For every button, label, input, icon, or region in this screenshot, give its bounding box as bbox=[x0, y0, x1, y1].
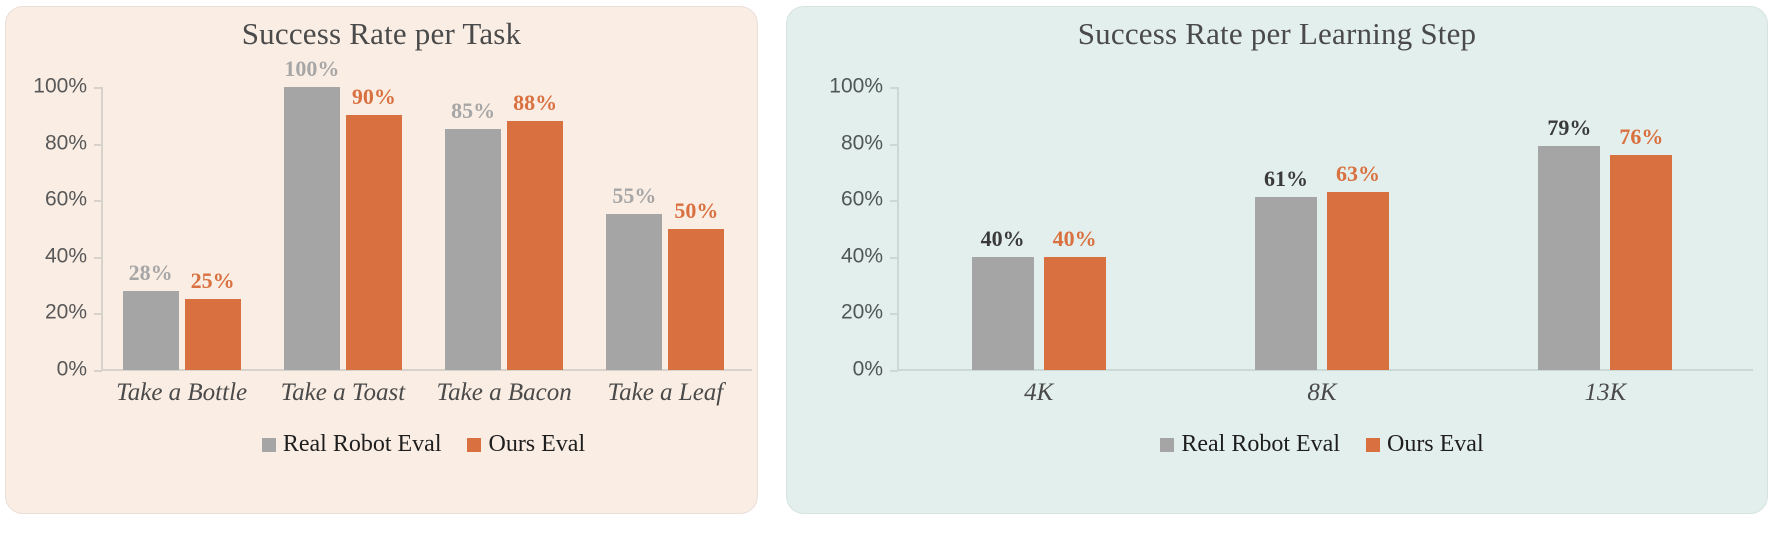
bar-value-label: 55% bbox=[612, 183, 656, 209]
chart-panel-success-rate-per-learning-step: Success Rate per Learning Step 0%20%40%6… bbox=[786, 6, 1768, 514]
x-axis-category-label: Take a Bottle bbox=[101, 379, 262, 407]
y-axis-tick-label: 60% bbox=[45, 188, 87, 212]
bar-pair: 61%63% bbox=[1255, 87, 1389, 370]
bar-pair: 40%40% bbox=[972, 87, 1106, 370]
bar-real-robot-eval[interactable]: 100% bbox=[284, 87, 340, 370]
bar-groups-left: 28%25%100%90%85%88%55%50% bbox=[101, 87, 746, 370]
bar-pair: 55%50% bbox=[606, 87, 724, 370]
x-axis-category-label: Take a Toast bbox=[262, 379, 423, 407]
bar-value-label: 40% bbox=[1053, 226, 1097, 252]
bar-value-label: 79% bbox=[1547, 115, 1591, 141]
bar-value-label: 25% bbox=[191, 268, 235, 294]
bar-ours-eval[interactable]: 40% bbox=[1044, 257, 1106, 370]
y-axis-tick-label: 20% bbox=[45, 301, 87, 325]
y-axis-tick-label: 20% bbox=[841, 301, 883, 325]
bar-real-robot-eval[interactable]: 85% bbox=[445, 129, 501, 370]
x-axis-category-label: 13K bbox=[1464, 379, 1747, 407]
legend-label-ours-eval: Ours Eval bbox=[488, 431, 585, 458]
bar-groups-right: 40%40%61%63%79%76% bbox=[897, 87, 1747, 370]
legend-right: Real Robot Eval Ours Eval bbox=[897, 431, 1747, 458]
plot-area-left: 0%20%40%60%80%100% 28%25%100%90%85%88%55… bbox=[101, 87, 746, 370]
bar-ours-eval[interactable]: 63% bbox=[1327, 192, 1389, 370]
bar-group: 79%76% bbox=[1464, 87, 1747, 370]
bar-value-label: 100% bbox=[284, 56, 339, 82]
legend-swatch-gray-icon bbox=[262, 438, 276, 452]
bar-real-robot-eval[interactable]: 28% bbox=[123, 291, 179, 370]
bar-value-label: 28% bbox=[129, 260, 173, 286]
bar-real-robot-eval[interactable]: 40% bbox=[972, 257, 1034, 370]
plot-area-right: 0%20%40%60%80%100% 40%40%61%63%79%76% bbox=[897, 87, 1747, 370]
y-axis-tick-label: 100% bbox=[33, 75, 87, 99]
bar-value-label: 40% bbox=[981, 226, 1025, 252]
y-axis-tick-label: 80% bbox=[841, 131, 883, 155]
bar-ours-eval[interactable]: 25% bbox=[185, 299, 241, 370]
bar-value-label: 76% bbox=[1619, 124, 1663, 150]
y-axis-tick-label: 40% bbox=[45, 244, 87, 268]
chart-title-right: Success Rate per Learning Step bbox=[787, 16, 1767, 52]
legend-swatch-orange-icon bbox=[467, 438, 481, 452]
legend-label-ours-eval: Ours Eval bbox=[1387, 431, 1484, 458]
bar-group: 85%88% bbox=[424, 87, 585, 370]
legend-label-real-robot-eval: Real Robot Eval bbox=[1181, 431, 1340, 458]
y-axis-tick bbox=[890, 370, 898, 372]
bar-real-robot-eval[interactable]: 55% bbox=[606, 214, 662, 370]
y-axis-tick-label: 60% bbox=[841, 188, 883, 212]
bar-group: 100%90% bbox=[262, 87, 423, 370]
bar-value-label: 50% bbox=[674, 198, 718, 224]
x-axis-category-label: Take a Leaf bbox=[585, 379, 746, 407]
y-axis-tick-label: 80% bbox=[45, 131, 87, 155]
bar-pair: 28%25% bbox=[123, 87, 241, 370]
bar-real-robot-eval[interactable]: 79% bbox=[1538, 146, 1600, 370]
legend-swatch-gray-icon bbox=[1160, 438, 1174, 452]
y-axis-tick-label: 100% bbox=[829, 75, 883, 99]
bar-pair: 85%88% bbox=[445, 87, 563, 370]
y-axis-tick-label: 0% bbox=[853, 358, 883, 382]
legend-label-real-robot-eval: Real Robot Eval bbox=[283, 431, 442, 458]
bar-pair: 100%90% bbox=[284, 87, 402, 370]
x-axis-category-label: 4K bbox=[897, 379, 1180, 407]
chart-title-left: Success Rate per Task bbox=[6, 16, 757, 52]
bar-group: 55%50% bbox=[585, 87, 746, 370]
bar-group: 61%63% bbox=[1180, 87, 1463, 370]
figure-board: Success Rate per Task 0%20%40%60%80%100%… bbox=[0, 0, 1774, 550]
bar-value-label: 63% bbox=[1336, 161, 1380, 187]
bar-value-label: 88% bbox=[513, 90, 557, 116]
x-axis-labels-right: 4K8K13K bbox=[897, 379, 1747, 407]
bar-value-label: 90% bbox=[352, 84, 396, 110]
legend-item-real-robot-eval-right[interactable]: Real Robot Eval bbox=[1160, 431, 1340, 458]
bar-value-label: 61% bbox=[1264, 166, 1308, 192]
bar-group: 40%40% bbox=[897, 87, 1180, 370]
bar-real-robot-eval[interactable]: 61% bbox=[1255, 197, 1317, 370]
y-axis-tick-label: 0% bbox=[57, 358, 87, 382]
bar-group: 28%25% bbox=[101, 87, 262, 370]
bar-ours-eval[interactable]: 76% bbox=[1610, 155, 1672, 370]
y-axis-tick-label: 40% bbox=[841, 244, 883, 268]
chart-panel-success-rate-per-task: Success Rate per Task 0%20%40%60%80%100%… bbox=[5, 6, 758, 514]
legend-item-real-robot-eval-left[interactable]: Real Robot Eval bbox=[262, 431, 442, 458]
x-axis-category-label: 8K bbox=[1180, 379, 1463, 407]
x-axis-category-label: Take a Bacon bbox=[424, 379, 585, 407]
y-axis-tick bbox=[94, 370, 102, 372]
legend-swatch-orange-icon bbox=[1366, 438, 1380, 452]
x-axis-labels-left: Take a BottleTake a ToastTake a BaconTak… bbox=[101, 379, 746, 407]
bar-pair: 79%76% bbox=[1538, 87, 1672, 370]
legend-item-ours-eval-right[interactable]: Ours Eval bbox=[1366, 431, 1484, 458]
bar-ours-eval[interactable]: 50% bbox=[668, 229, 724, 371]
legend-item-ours-eval-left[interactable]: Ours Eval bbox=[467, 431, 585, 458]
bar-ours-eval[interactable]: 90% bbox=[346, 115, 402, 370]
bar-ours-eval[interactable]: 88% bbox=[507, 121, 563, 370]
legend-left: Real Robot Eval Ours Eval bbox=[101, 431, 746, 458]
bar-value-label: 85% bbox=[451, 98, 495, 124]
